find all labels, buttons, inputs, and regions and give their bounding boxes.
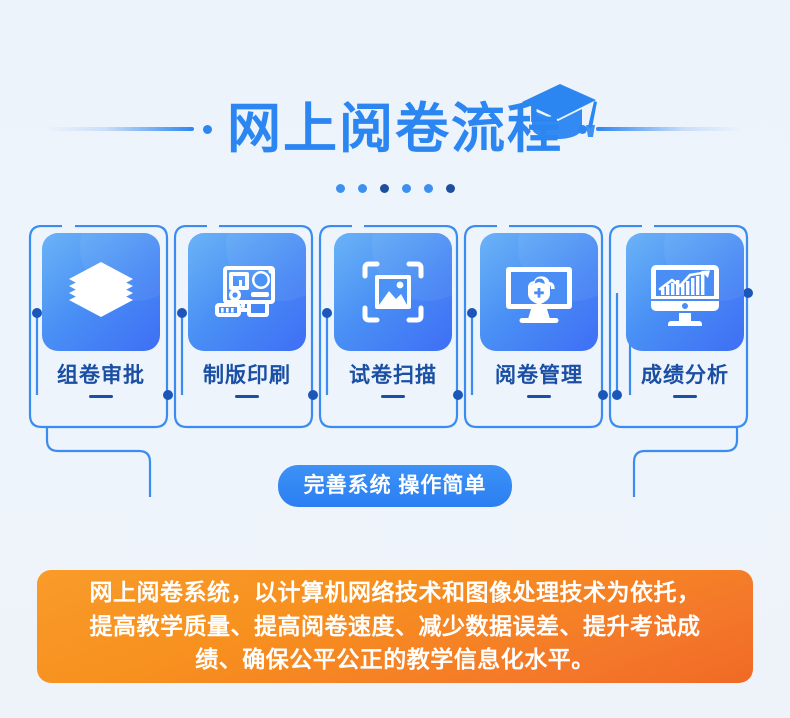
flow-card-5-label: 成绩分析: [641, 365, 729, 386]
flow-card-2-underline: [235, 395, 259, 398]
title-row: 网上阅卷流程: [0, 94, 790, 164]
flow-card-2[interactable]: 制版印刷: [175, 233, 319, 398]
description-line-1: 网上阅卷系统，以计算机网络技术和图像处理技术为依托，: [90, 576, 701, 609]
printing-press-icon: [209, 254, 285, 330]
description-line-2: 提高教学质量、提高阅卷速度、减少数据误差、提升考试成: [90, 610, 701, 643]
flow-card-1-underline: [89, 395, 113, 398]
flow-card-list: 组卷审批: [29, 233, 761, 398]
description-banner: 网上阅卷系统，以计算机网络技术和图像处理技术为依托， 提高教学质量、提高阅卷速度…: [37, 570, 753, 683]
monitor-bar-chart-icon: [646, 253, 724, 331]
scan-image-icon: [355, 254, 431, 330]
flow-card-5[interactable]: 成绩分析: [613, 233, 757, 398]
decor-dot: [424, 184, 433, 193]
header-decor-dots: [0, 184, 790, 193]
description-line-3: 绩、确保公平公正的教学信息化水平。: [90, 643, 701, 676]
decor-dot: [402, 184, 411, 193]
summary-pill[interactable]: 完善系统 操作简单: [278, 465, 513, 507]
flow-card-4[interactable]: 阅卷管理: [467, 233, 611, 398]
flow-card-4-label: 阅卷管理: [495, 365, 583, 386]
monitor-cloud-shield-icon: [500, 253, 578, 331]
flow-card-2-label: 制版印刷: [203, 365, 291, 386]
flow-card-3-tile: [334, 233, 452, 351]
summary-pill-wrap: 完善系统 操作简单: [0, 465, 790, 507]
flow-card-1-label: 组卷审批: [57, 365, 145, 386]
description-banner-text: 网上阅卷系统，以计算机网络技术和图像处理技术为依托， 提高教学质量、提高阅卷速度…: [90, 576, 701, 676]
infographic-page: 网上阅卷流程: [0, 0, 790, 718]
flow-card-5-tile: [626, 233, 744, 351]
layers-stack-icon: [63, 254, 139, 330]
decor-dot: [336, 184, 345, 193]
graduation-cap-icon: [516, 82, 602, 144]
flow-card-2-tile: [188, 233, 306, 351]
decor-dot: [446, 184, 455, 193]
decor-dot: [358, 184, 367, 193]
flow-card-4-tile: [480, 233, 598, 351]
flow-card-3-underline: [381, 395, 405, 398]
decor-dot: [380, 184, 389, 193]
flow-card-5-underline: [673, 395, 697, 398]
title-rule-right: [596, 127, 744, 131]
title-dot-left: [203, 125, 212, 134]
flow-card-3[interactable]: 试卷扫描: [321, 233, 465, 398]
flow-card-1-tile: [42, 233, 160, 351]
flow-card-1[interactable]: 组卷审批: [29, 233, 173, 398]
flow-card-3-label: 试卷扫描: [349, 365, 437, 386]
flow-card-4-underline: [527, 395, 551, 398]
page-header: 网上阅卷流程: [0, 42, 790, 182]
title-rule-left: [46, 127, 194, 131]
